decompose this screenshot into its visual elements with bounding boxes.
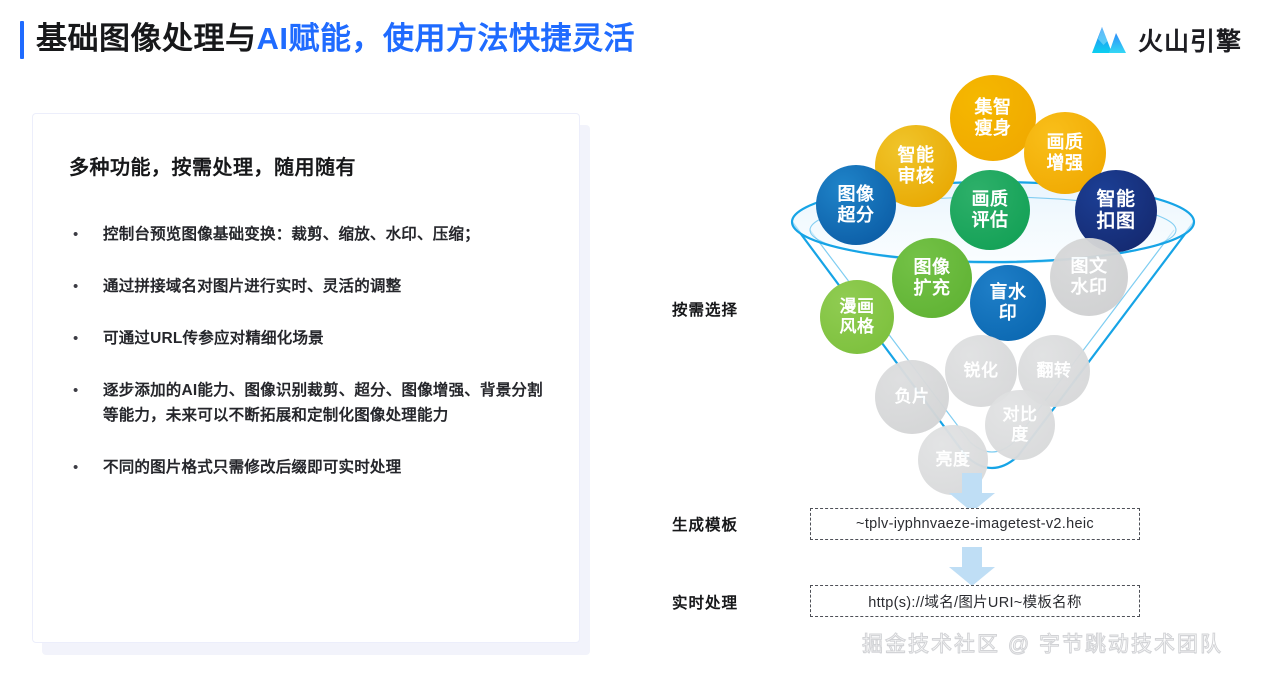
list-item-label: 可通过URL传参应对精细化场景 xyxy=(103,326,555,351)
list-item: • 不同的图片格式只需修改后缀即可实时处理 xyxy=(67,455,555,480)
arrow-down-icon xyxy=(948,473,996,513)
bullet-marker-icon: • xyxy=(67,222,103,247)
bubble-fupian[interactable]: 负片 xyxy=(875,360,949,434)
list-item-label: 不同的图片格式只需修改后缀即可实时处理 xyxy=(103,455,555,480)
bubble-manhuafengge[interactable]: 漫画风格 xyxy=(820,280,894,354)
bubble-label: 画质评估 xyxy=(950,189,1030,231)
funnel-diagram: 集智瘦身 智能审核 画质增强 图像超分 画质评估 智能扣图 图像扩充 盲水印 漫… xyxy=(620,70,1260,650)
list-item-label: 通过拼接域名对图片进行实时、灵活的调整 xyxy=(103,274,555,299)
bubble-label: 亮度 xyxy=(918,450,988,470)
bubble-tuxiangkuochong[interactable]: 图像扩充 xyxy=(892,238,972,318)
list-item-label: 逐步添加的AI能力、图像识别裁剪、超分、图像增强、背景分割等能力，未来可以不断拓… xyxy=(103,378,555,428)
watermark: 掘金技术社区 @ 字节跳动技术团队 xyxy=(862,628,1223,658)
bubble-label: 漫画风格 xyxy=(820,297,894,337)
bullet-marker-icon: • xyxy=(67,455,103,480)
bubble-label: 翻转 xyxy=(1018,361,1090,381)
bubble-label: 图像超分 xyxy=(816,184,896,226)
feature-card: 多种功能，按需处理，随用随有 • 控制台预览图像基础变换：裁剪、缩放、水印、压缩… xyxy=(32,113,580,643)
feature-bullet-list: • 控制台预览图像基础变换：裁剪、缩放、水印、压缩； • 通过拼接域名对图片进行… xyxy=(67,222,555,507)
list-item: • 通过拼接域名对图片进行实时、灵活的调整 xyxy=(67,274,555,299)
bubble-label: 对比度 xyxy=(985,405,1055,445)
card-heading: 多种功能，按需处理，随用随有 xyxy=(69,151,356,180)
title-accent-bar xyxy=(20,21,24,59)
bubble-label: 盲水印 xyxy=(970,282,1046,324)
brand-name: 火山引擎 xyxy=(1138,22,1242,58)
bubble-label: 负片 xyxy=(875,387,949,407)
bubble-label: 图像扩充 xyxy=(892,257,972,299)
bubble-label: 画质增强 xyxy=(1024,132,1106,174)
page-title: 基础图像处理与AI赋能，使用方法快捷灵活 xyxy=(36,17,635,61)
bubble-mangshuiyin[interactable]: 盲水印 xyxy=(970,265,1046,341)
realtime-value-box[interactable]: http(s)://域名/图片URI~模板名称 xyxy=(810,585,1140,617)
stage-label-select: 按需选择 xyxy=(672,298,738,320)
arrow-down-icon xyxy=(948,547,996,587)
list-item-label: 控制台预览图像基础变换：裁剪、缩放、水印、压缩； xyxy=(103,222,555,247)
bullet-marker-icon: • xyxy=(67,378,103,403)
bubble-label: 锐化 xyxy=(945,361,1017,381)
page-title-part-blue: AI赋能，使用方法快捷灵活 xyxy=(257,21,636,56)
bubble-label: 智能扣图 xyxy=(1075,189,1157,234)
bubble-tuxiangchaofen[interactable]: 图像超分 xyxy=(816,165,896,245)
bubble-tuwenshuiyin[interactable]: 图文水印 xyxy=(1050,238,1128,316)
brand-lockup: 火山引擎 xyxy=(1091,22,1242,58)
bubble-huazhipinggu[interactable]: 画质评估 xyxy=(950,170,1030,250)
page-title-part-dark: 基础图像处理与 xyxy=(36,21,257,56)
bullet-marker-icon: • xyxy=(67,326,103,351)
bullet-marker-icon: • xyxy=(67,274,103,299)
stage-label-template: 生成模板 xyxy=(672,513,738,535)
list-item: • 可通过URL传参应对精细化场景 xyxy=(67,326,555,351)
bubble-duibidu[interactable]: 对比度 xyxy=(985,390,1055,460)
list-item: • 逐步添加的AI能力、图像识别裁剪、超分、图像增强、背景分割等能力，未来可以不… xyxy=(67,378,555,428)
list-item: • 控制台预览图像基础变换：裁剪、缩放、水印、压缩； xyxy=(67,222,555,247)
stage-label-realtime: 实时处理 xyxy=(672,591,738,613)
template-value-box[interactable]: ~tplv-iyphnvaeze-imagetest-v2.heic xyxy=(810,508,1140,540)
volcano-mountain-logo-icon xyxy=(1091,25,1127,55)
bubble-label: 图文水印 xyxy=(1050,256,1128,298)
